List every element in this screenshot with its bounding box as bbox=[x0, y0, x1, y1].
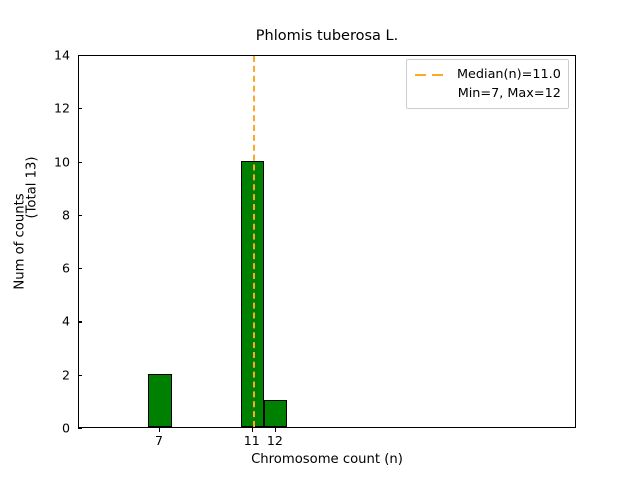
dashed-line-icon bbox=[414, 68, 448, 82]
y-tick-mark bbox=[78, 55, 82, 56]
plot-area bbox=[78, 55, 576, 428]
y-tick-label: 0 bbox=[10, 421, 70, 436]
legend-item-median: Median(n)=11.0 bbox=[414, 65, 561, 84]
y-tick-mark bbox=[78, 108, 82, 109]
median-line bbox=[253, 56, 255, 427]
plot-inner bbox=[79, 56, 575, 427]
y-tick-label: 2 bbox=[10, 367, 70, 382]
bar-12 bbox=[264, 400, 287, 427]
legend-label-median: Median(n)=11.0 bbox=[457, 67, 561, 82]
y-tick-mark bbox=[78, 215, 82, 216]
y-tick-label: 12 bbox=[10, 101, 70, 116]
y-tick-label: 14 bbox=[10, 48, 70, 63]
x-tick-label: 7 bbox=[129, 433, 189, 448]
legend-label-minmax: Min=7, Max=12 bbox=[458, 86, 561, 101]
x-tick-label: 12 bbox=[245, 433, 305, 448]
y-tick-mark bbox=[78, 162, 82, 163]
x-axis-ticks: 71112 bbox=[78, 428, 576, 454]
y-tick-mark bbox=[78, 268, 82, 269]
x-tick-mark bbox=[159, 428, 160, 432]
bar-7 bbox=[148, 374, 171, 427]
x-tick-mark bbox=[252, 428, 253, 432]
page-title: Phlomis tuberosa L. bbox=[78, 28, 576, 44]
chart-figure: Phlomis tuberosa L. 02468101214 71112 Ch… bbox=[0, 0, 640, 480]
x-axis-label: Chromosome count (n) bbox=[78, 452, 576, 467]
y-tick-mark bbox=[78, 321, 82, 322]
y-tick-mark bbox=[78, 375, 82, 376]
x-tick-mark bbox=[275, 428, 276, 432]
y-axis-label-total: (Total 13) bbox=[25, 108, 40, 268]
legend: Median(n)=11.0 Min=7, Max=12 bbox=[406, 59, 569, 109]
legend-item-minmax: Min=7, Max=12 bbox=[414, 84, 561, 103]
